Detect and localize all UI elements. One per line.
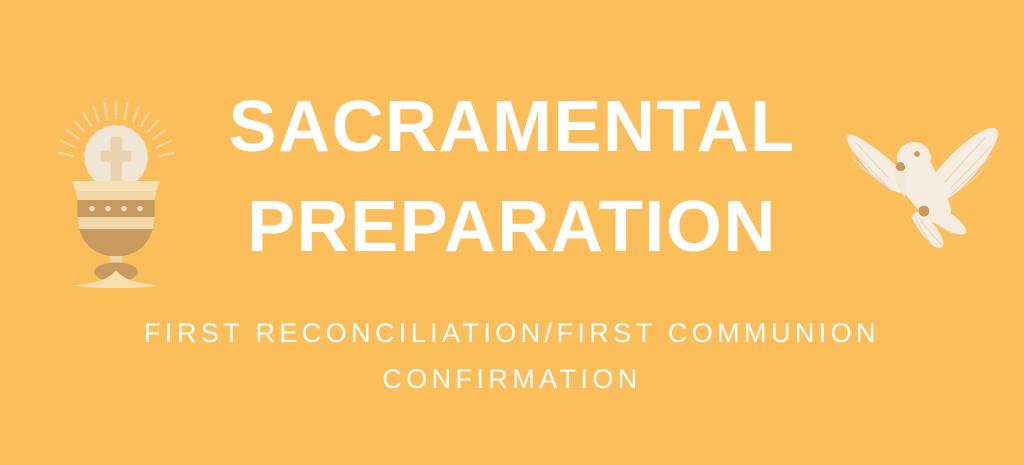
banner-title-line-2: PREPARATION: [247, 178, 777, 276]
communion-host: [85, 126, 148, 189]
sacramental-preparation-banner: SACRAMENTAL PREPARATION FIRST RECONCILIA…: [0, 0, 1024, 465]
dove-tail-marking: [919, 206, 930, 217]
chalice-base: [74, 270, 158, 288]
chalice-cup: [72, 181, 160, 257]
banner-subtitle-line-2: CONFIRMATION: [382, 354, 641, 404]
banner-subtitle-line-1: FIRST RECONCILIATION/FIRST COMMUNION: [144, 308, 880, 358]
dove-head: [896, 142, 931, 174]
chalice-with-host-icon: [42, 96, 190, 288]
dove-icon: [845, 124, 1010, 254]
dove-eye: [914, 151, 920, 157]
banner-title-line-1: SACRAMENTAL: [228, 78, 795, 176]
